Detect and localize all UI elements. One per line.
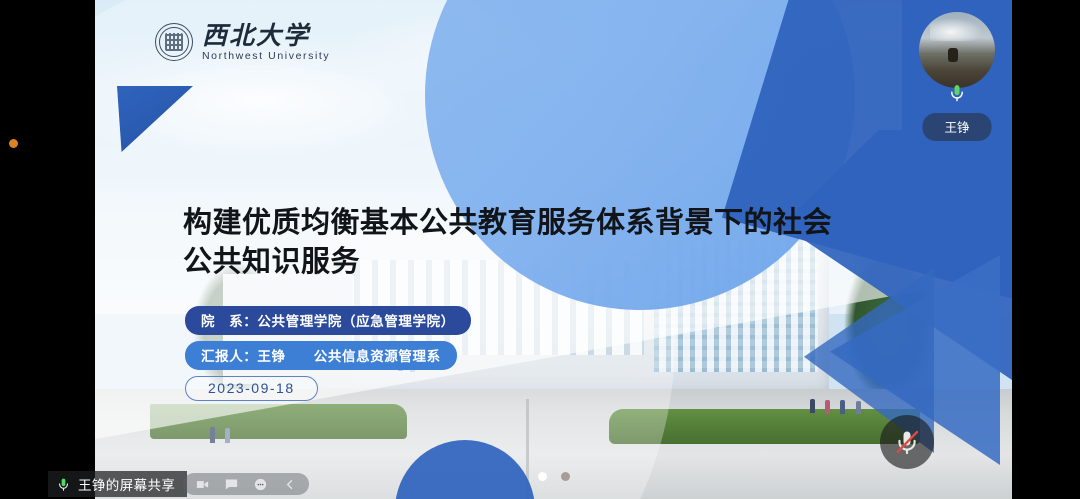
slide-date-pill: 2023-09-18 <box>185 376 318 401</box>
shared-slide[interactable]: 西北大学 Northwest University 构建优质均衡基本公共教育服务… <box>95 0 1012 499</box>
person-figure <box>225 428 230 443</box>
person-figure <box>825 400 830 414</box>
grass-patch-left <box>150 404 407 439</box>
person-figure <box>840 400 845 414</box>
page-indicator[interactable] <box>538 472 570 481</box>
logo-en-name: Northwest University <box>202 51 330 62</box>
screen-share-window: 西北大学 Northwest University 构建优质均衡基本公共教育服务… <box>0 0 1080 499</box>
slide-title: 构建优质均衡基本公共教育服务体系背景下的社会公共知识服务 <box>183 204 843 281</box>
share-status-label: 王铮的屏幕共享 <box>78 474 175 494</box>
chat-bubble-icon[interactable] <box>224 477 239 492</box>
person-figure <box>210 427 215 443</box>
page-dot-active[interactable] <box>538 472 547 481</box>
slide-department-pill: 院 系：公共管理学院（应急管理学院） <box>185 306 471 335</box>
meeting-mini-toolbar[interactable] <box>183 473 309 495</box>
university-logo: 西北大学 Northwest University <box>155 23 330 62</box>
person-figure <box>810 399 815 413</box>
logo-cn-name: 西北大学 <box>202 23 330 48</box>
share-mic-icon <box>56 477 71 492</box>
participant-tile[interactable]: 王铮 <box>902 0 1012 160</box>
more-options-icon[interactable] <box>253 477 268 492</box>
slide-presenter-pill: 汇报人：王铮 公共信息资源管理系 <box>185 341 457 370</box>
participant-mic-badge <box>946 82 968 104</box>
slide-info-group: 院 系：公共管理学院（应急管理学院） 汇报人：王铮 公共信息资源管理系 2023… <box>185 306 471 401</box>
mic-muted-icon <box>893 428 921 456</box>
share-status-bar: 王铮的屏幕共享 <box>48 471 187 497</box>
person-figure <box>856 401 861 414</box>
avatar <box>919 12 995 88</box>
microphone-icon <box>947 83 967 103</box>
participant-name: 王铮 <box>922 113 991 141</box>
page-dot-inactive[interactable] <box>561 472 570 481</box>
letterbox-right <box>1012 0 1080 499</box>
recording-indicator-dot <box>9 139 18 148</box>
university-seal-icon <box>155 23 193 61</box>
video-camera-icon[interactable] <box>195 477 210 492</box>
collapse-chevron-icon[interactable] <box>282 477 297 492</box>
grass-patch-right <box>609 409 921 444</box>
letterbox-left <box>0 0 95 499</box>
logo-text: 西北大学 Northwest University <box>202 23 330 62</box>
mute-button[interactable] <box>880 415 934 469</box>
